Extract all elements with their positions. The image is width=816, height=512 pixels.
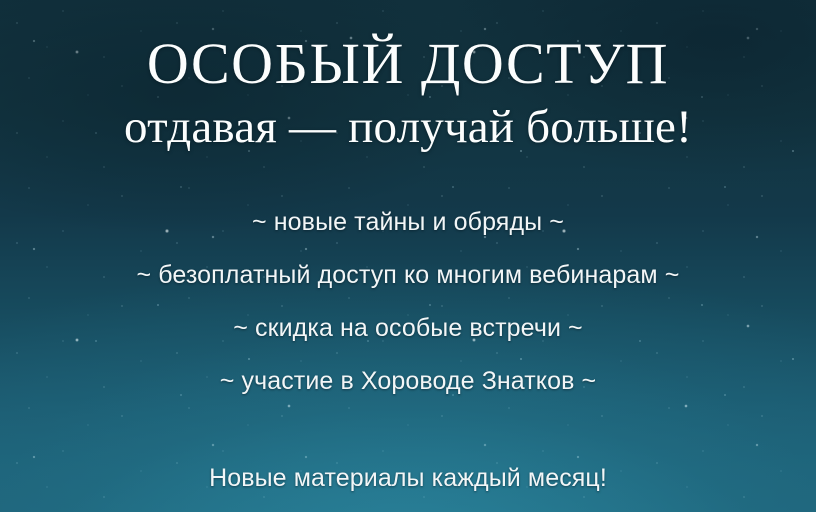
benefit-item: ~ новые тайны и обряды ~ [0, 196, 816, 249]
benefits-list: ~ новые тайны и обряды ~ ~ безоплатный д… [0, 196, 816, 408]
promo-poster: ОСОБЫЙ ДОСТУП отдавая — получай больше! … [0, 0, 816, 512]
poster-title: ОСОБЫЙ ДОСТУП [0, 33, 816, 95]
poster-subtitle: отдавая — получай больше! [0, 101, 816, 153]
benefit-item: ~ участие в Хороводе Знатков ~ [0, 355, 816, 408]
benefit-item: ~ скидка на особые встречи ~ [0, 302, 816, 355]
poster-content: ОСОБЫЙ ДОСТУП отдавая — получай больше! … [0, 0, 816, 512]
poster-footer-note: Новые материалы каждый месяц! [0, 462, 816, 494]
benefit-item: ~ безоплатный доступ ко многим вебинарам… [0, 249, 816, 302]
